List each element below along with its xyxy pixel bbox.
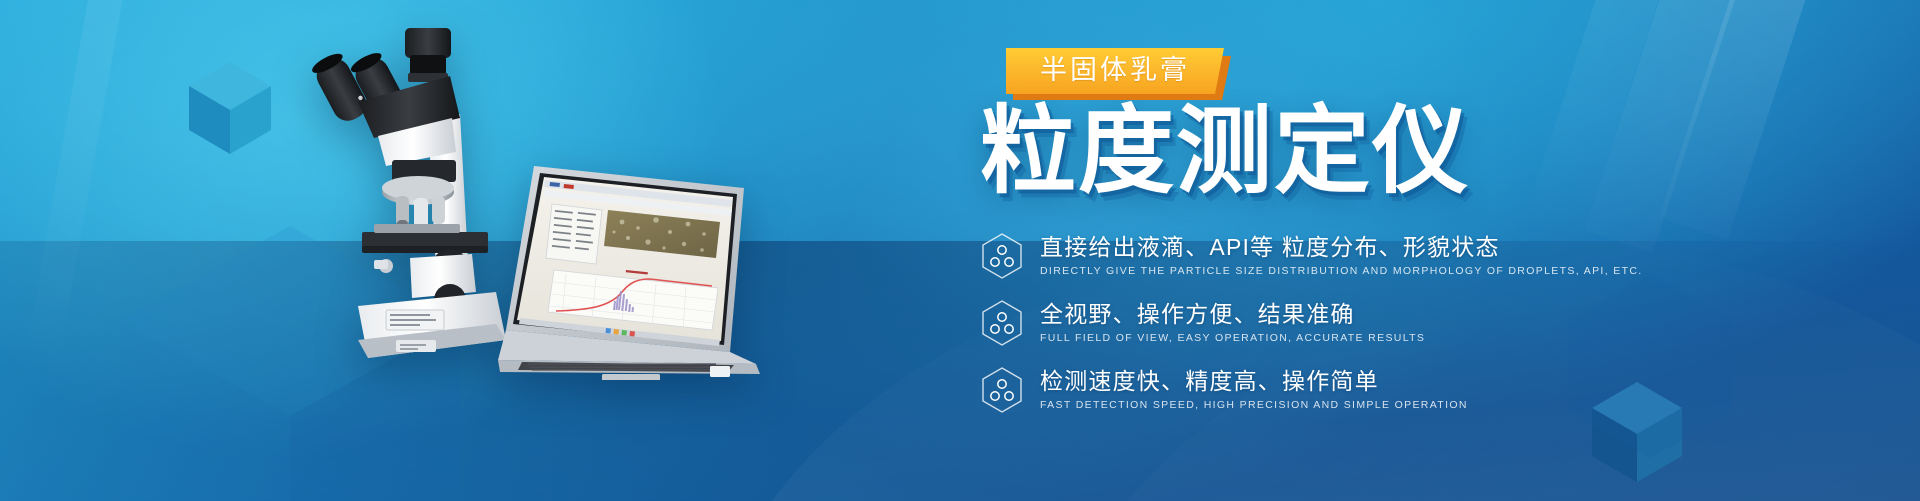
feature-title-cn: 检测速度快、精度高、操作简单 bbox=[1040, 368, 1379, 394]
feature-title-en: FAST DETECTION SPEED, HIGH PRECISION AND… bbox=[1040, 399, 1468, 411]
microscope-illustration bbox=[310, 28, 506, 358]
product-photo bbox=[300, 10, 820, 380]
laptop-illustration bbox=[498, 166, 760, 380]
molecule-hexagon-icon bbox=[980, 366, 1024, 414]
banner-content: 半固体乳膏 粒度测定仪 直接给出液滴、API等 粒度分布、形貌状态 DIRECT… bbox=[980, 48, 1720, 414]
feature-item: 检测速度快、精度高、操作简单 FAST DETECTION SPEED, HIG… bbox=[980, 366, 1720, 414]
feature-title-cn: 全视野、操作方便、结果准确 bbox=[1040, 301, 1355, 327]
molecule-hexagon-icon bbox=[980, 299, 1024, 347]
feature-text: 直接给出液滴、API等 粒度分布、形貌状态 DIRECTLY GIVE THE … bbox=[1040, 234, 1720, 279]
category-badge: 半固体乳膏 bbox=[1006, 48, 1224, 94]
feature-list: 直接给出液滴、API等 粒度分布、形貌状态 DIRECTLY GIVE THE … bbox=[980, 232, 1720, 414]
badge-body: 半固体乳膏 bbox=[1006, 48, 1224, 94]
molecule-hexagon-icon bbox=[980, 232, 1024, 280]
badge-label: 半固体乳膏 bbox=[1040, 55, 1190, 85]
feature-text: 检测速度快、精度高、操作简单 FAST DETECTION SPEED, HIG… bbox=[1040, 368, 1720, 413]
diagonal-stripe-left bbox=[22, 0, 132, 380]
feature-title-cn: 直接给出液滴、API等 粒度分布、形貌状态 bbox=[1040, 234, 1500, 260]
feature-item: 全视野、操作方便、结果准确 FULL FIELD OF VIEW, EASY O… bbox=[980, 299, 1720, 347]
page-title: 粒度测定仪 bbox=[980, 102, 1720, 202]
feature-title-en: DIRECTLY GIVE THE PARTICLE SIZE DISTRIBU… bbox=[1040, 265, 1643, 277]
laptop-screen bbox=[517, 177, 733, 346]
feature-item: 直接给出液滴、API等 粒度分布、形貌状态 DIRECTLY GIVE THE … bbox=[980, 232, 1720, 280]
feature-title-en: FULL FIELD OF VIEW, EASY OPERATION, ACCU… bbox=[1040, 332, 1425, 344]
product-banner: 半固体乳膏 粒度测定仪 直接给出液滴、API等 粒度分布、形貌状态 DIRECT… bbox=[0, 0, 1920, 501]
feature-text: 全视野、操作方便、结果准确 FULL FIELD OF VIEW, EASY O… bbox=[1040, 301, 1720, 346]
isometric-cube-top-left-icon bbox=[185, 58, 275, 158]
